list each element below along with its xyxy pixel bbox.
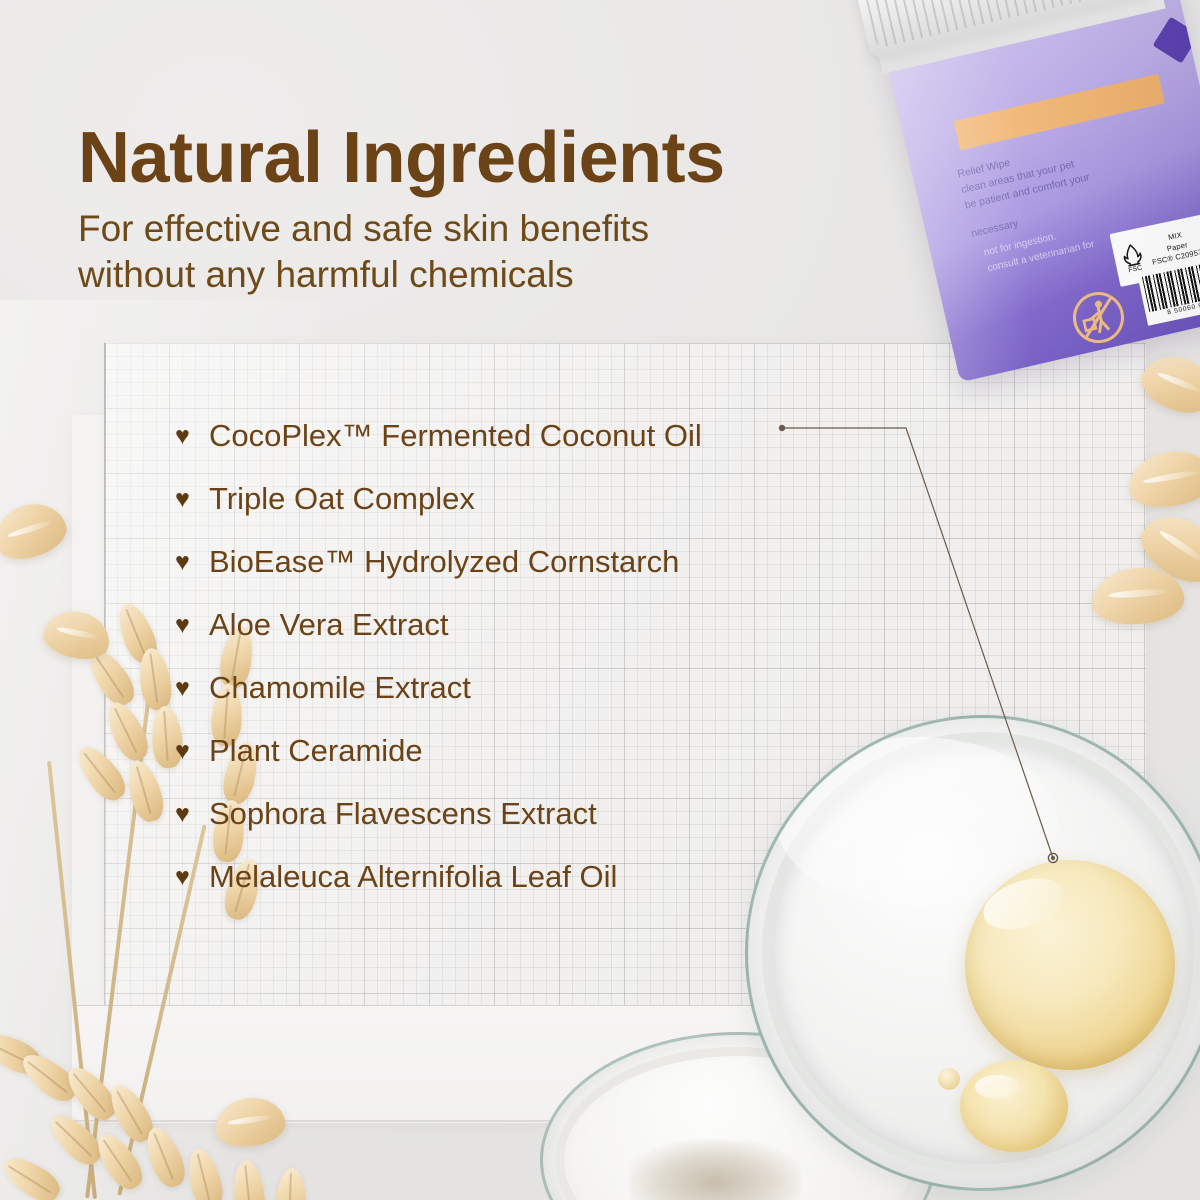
barcode-bars — [1142, 257, 1200, 312]
heart-bullet-icon: ♥ — [175, 424, 209, 449]
jar-copy-line2: clean areas that your pet — [960, 127, 1200, 199]
ingredient-row: ♥Plant Ceramide — [175, 720, 935, 783]
heart-bullet-icon: ♥ — [175, 550, 209, 575]
fsc-certification-label: FSC MIX Paper FSC® C209571 — [1109, 213, 1200, 287]
page-title: Natural Ingredients — [78, 122, 725, 194]
ingredient-label: Melaleuca Alternifolia Leaf Oil — [209, 860, 617, 894]
jar-warning-line1: not for ingestion. — [982, 194, 1200, 261]
jar-warning-copy: not for ingestion. consult a veterinaria… — [982, 194, 1200, 276]
page-subtitle: For effective and safe skin benefits wit… — [78, 206, 649, 298]
barcode-digits: 8 50060 91364 8 — [1150, 293, 1200, 320]
ingredient-label: Aloe Vera Extract — [209, 608, 449, 642]
fsc-line-paper: Paper — [1149, 236, 1200, 258]
jar-copy-line3: be patient and comfort your — [963, 142, 1200, 214]
ingredient-row: ♥Chamomile Extract — [175, 657, 935, 720]
ingredient-label: Chamomile Extract — [209, 671, 471, 705]
ingredient-row: ♥Sophora Flavescens Extract — [175, 783, 935, 846]
ingredient-label: CocoPlex™ Fermented Coconut Oil — [209, 419, 702, 453]
svg-text:FSC: FSC — [1128, 265, 1143, 275]
fsc-tree-icon: FSC — [1117, 239, 1149, 274]
fsc-line-mix: MIX — [1147, 226, 1200, 248]
cornstarch-powder — [630, 1140, 800, 1200]
heart-bullet-icon: ♥ — [175, 739, 209, 764]
ingredient-row: ♥Melaleuca Alternifolia Leaf Oil — [175, 846, 935, 909]
fsc-tree-glyph: FSC — [1117, 239, 1149, 274]
heart-bullet-icon: ♥ — [175, 865, 209, 890]
product-marketing-image: Relief Wipe clean areas that your pet be… — [0, 0, 1200, 1200]
jar-copy-line4: necessary — [970, 171, 1200, 243]
do-not-flush-glyph — [1065, 284, 1132, 351]
fsc-text-block: MIX Paper FSC® C209571 — [1147, 226, 1200, 269]
ingredient-label: Triple Oat Complex — [209, 482, 475, 516]
ingredient-row: ♥BioEase™ Hydrolyzed Cornstarch — [175, 531, 935, 594]
ingredient-row: ♥Aloe Vera Extract — [175, 594, 935, 657]
jar-accent-band — [954, 74, 1165, 150]
fsc-line-code: FSC® C209571 — [1151, 247, 1200, 269]
ingredient-row: ♥Triple Oat Complex — [175, 468, 935, 531]
jar-warning-line2: consult a veterinarian for — [986, 209, 1200, 276]
jar-body-copy: Relief Wipe clean areas that your pet be… — [956, 112, 1200, 243]
ingredient-label: BioEase™ Hydrolyzed Cornstarch — [209, 545, 679, 579]
coconut-oil-droplet — [965, 860, 1175, 1070]
coconut-oil-droplet-mini — [938, 1068, 960, 1090]
ingredient-label: Sophora Flavescens Extract — [209, 797, 597, 831]
heart-bullet-icon: ♥ — [175, 676, 209, 701]
jar-corner-tab — [1153, 17, 1200, 64]
heart-bullet-icon: ♥ — [175, 613, 209, 638]
subtitle-line-1: For effective and safe skin benefits — [78, 206, 649, 252]
heart-bullet-icon: ♥ — [175, 487, 209, 512]
ingredient-label: Plant Ceramide — [209, 734, 423, 768]
ingredient-row: ♥CocoPlex™ Fermented Coconut Oil — [175, 405, 935, 468]
coconut-oil-droplet-small — [960, 1060, 1068, 1152]
heart-bullet-icon: ♥ — [175, 802, 209, 827]
barcode: 8 50060 91364 8 — [1137, 253, 1200, 325]
ingredient-list: ♥CocoPlex™ Fermented Coconut Oil♥Triple … — [175, 405, 935, 909]
subtitle-line-2: without any harmful chemicals — [78, 252, 649, 298]
jar-copy-line1: Relief Wipe — [956, 112, 1200, 184]
